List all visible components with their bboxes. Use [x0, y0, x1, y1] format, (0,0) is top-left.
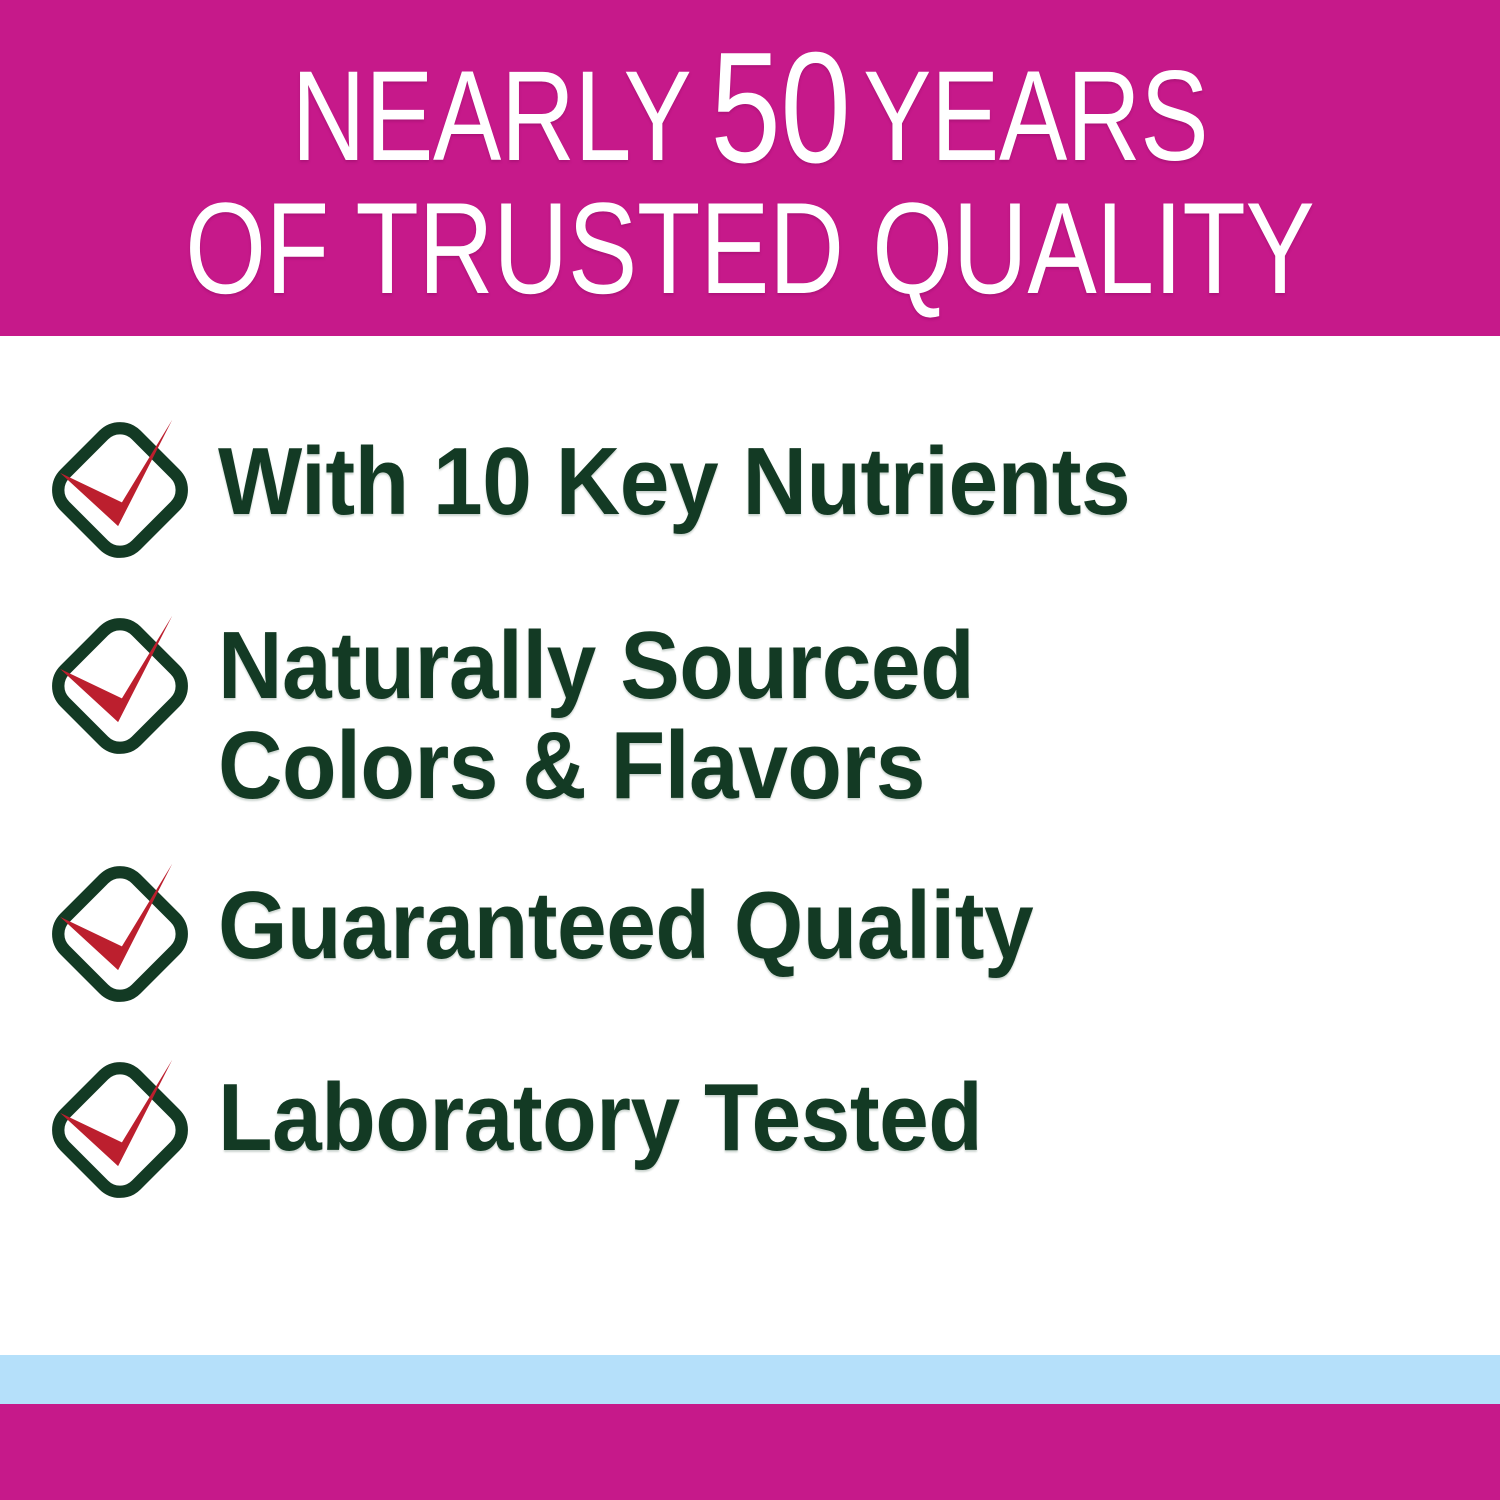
green-diamond-red-check-icon: [44, 858, 196, 1010]
header-headline-line-1: NEARLY 50 YEARS: [292, 31, 1209, 183]
bullet-text-line: Naturally Sourced: [218, 616, 974, 716]
bullet-text-line: Laboratory Tested: [218, 1068, 982, 1168]
green-diamond-red-check-icon: [44, 610, 196, 762]
footer-magenta-stripe: [0, 1404, 1500, 1500]
bullet-text: Laboratory Tested: [218, 1054, 982, 1168]
bullet-text: Guaranteed Quality: [218, 858, 1033, 976]
list-item: Naturally Sourced Colors & Flavors: [0, 610, 1500, 816]
green-diamond-red-check-icon: [44, 1054, 196, 1206]
list-item: With 10 Key Nutrients: [0, 414, 1500, 566]
header-number-fifty: 50: [711, 33, 851, 185]
bullet-text-line: Guaranteed Quality: [218, 876, 1033, 976]
list-item: Guaranteed Quality: [0, 858, 1500, 1010]
header-word-nearly: NEARLY: [292, 56, 692, 179]
bullet-text-line: Colors & Flavors: [218, 716, 974, 816]
green-diamond-red-check-icon: [44, 414, 196, 566]
header-banner: NEARLY 50 YEARS OF TRUSTED QUALITY: [0, 0, 1500, 336]
feature-bullet-list: With 10 Key Nutrients Naturally Sourced …: [0, 336, 1500, 1355]
footer-blue-stripe: [0, 1355, 1500, 1404]
bullet-text-line: With 10 Key Nutrients: [218, 432, 1130, 532]
bullet-text: Naturally Sourced Colors & Flavors: [218, 610, 974, 816]
header-headline-line-2: OF TRUSTED QUALITY: [185, 186, 1314, 311]
list-item: Laboratory Tested: [0, 1054, 1500, 1206]
header-word-years: YEARS: [863, 56, 1208, 179]
bullet-text: With 10 Key Nutrients: [218, 414, 1130, 532]
product-feature-graphic: NEARLY 50 YEARS OF TRUSTED QUALITY With …: [0, 0, 1500, 1500]
